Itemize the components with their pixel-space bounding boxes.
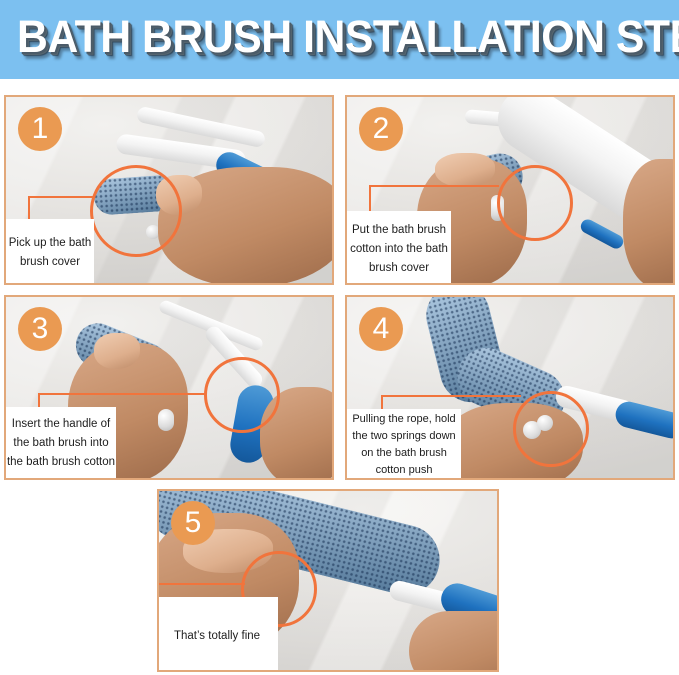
step-caption-4: Pulling the rope, hold the two springs d… <box>347 409 461 480</box>
step-caption-5: That’s totally fine <box>157 597 278 672</box>
caption-line: Put the bath brush <box>352 221 446 240</box>
step-panel-2: 2 Put the bath brush cotton into the bat… <box>345 95 675 285</box>
caption-line: Pick up the bath <box>9 234 91 253</box>
caption-line: brush cover <box>20 253 80 272</box>
step-badge-1: 1 <box>18 107 62 151</box>
left-fingers <box>435 153 495 187</box>
caption-line: the bath brush into <box>13 434 108 453</box>
highlight-ring-1 <box>90 165 182 257</box>
caption-line: That’s totally fine <box>174 627 260 646</box>
caption-line: Pulling the rope, hold <box>352 411 455 428</box>
caption-line: Insert the handle of <box>12 415 110 434</box>
caption-line: cotton push <box>376 462 433 479</box>
highlight-ring-4 <box>513 391 589 467</box>
step-badge-2: 2 <box>359 107 403 151</box>
title-banner: BATH BRUSH INSTALLATION STEPS <box>0 0 679 79</box>
step-badge-4: 4 <box>359 307 403 351</box>
step-panel-1: 1 Pick up the bath brush cover <box>4 95 334 285</box>
leader-line-h-5 <box>157 583 245 585</box>
left-thumb <box>94 333 140 369</box>
highlight-ring-2 <box>497 165 573 241</box>
caption-line: the bath brush cotton <box>7 453 115 472</box>
highlight-ring-3 <box>204 357 280 433</box>
step-caption-3: Insert the handle of the bath brush into… <box>6 407 116 479</box>
caption-line: cotton into the bath <box>350 240 448 259</box>
forearm <box>409 611 497 670</box>
leader-line-h-2 <box>369 185 499 187</box>
leader-line-h-4 <box>381 395 521 397</box>
step-caption-2: Put the bath brush cotton into the bath … <box>347 211 451 285</box>
step-badge-3: 3 <box>18 307 62 351</box>
step-badge-5: 5 <box>171 501 215 545</box>
leader-line-h-1 <box>28 196 94 198</box>
step-caption-1: Pick up the bath brush cover <box>6 219 94 285</box>
step-panel-5: 5 That’s totally fine <box>157 489 499 672</box>
caption-line: brush cover <box>369 259 429 278</box>
step-panel-4: 4 Pulling the rope, hold the two springs… <box>345 295 675 480</box>
spring-knob <box>158 409 174 431</box>
page-title: BATH BRUSH INSTALLATION STEPS <box>17 8 662 66</box>
step-panel-3: 3 Insert the handle of the bath brush in… <box>4 295 334 480</box>
caption-line: the two springs down <box>352 428 455 445</box>
caption-line: on the bath brush <box>361 445 447 462</box>
leader-line-h-3 <box>38 393 206 395</box>
